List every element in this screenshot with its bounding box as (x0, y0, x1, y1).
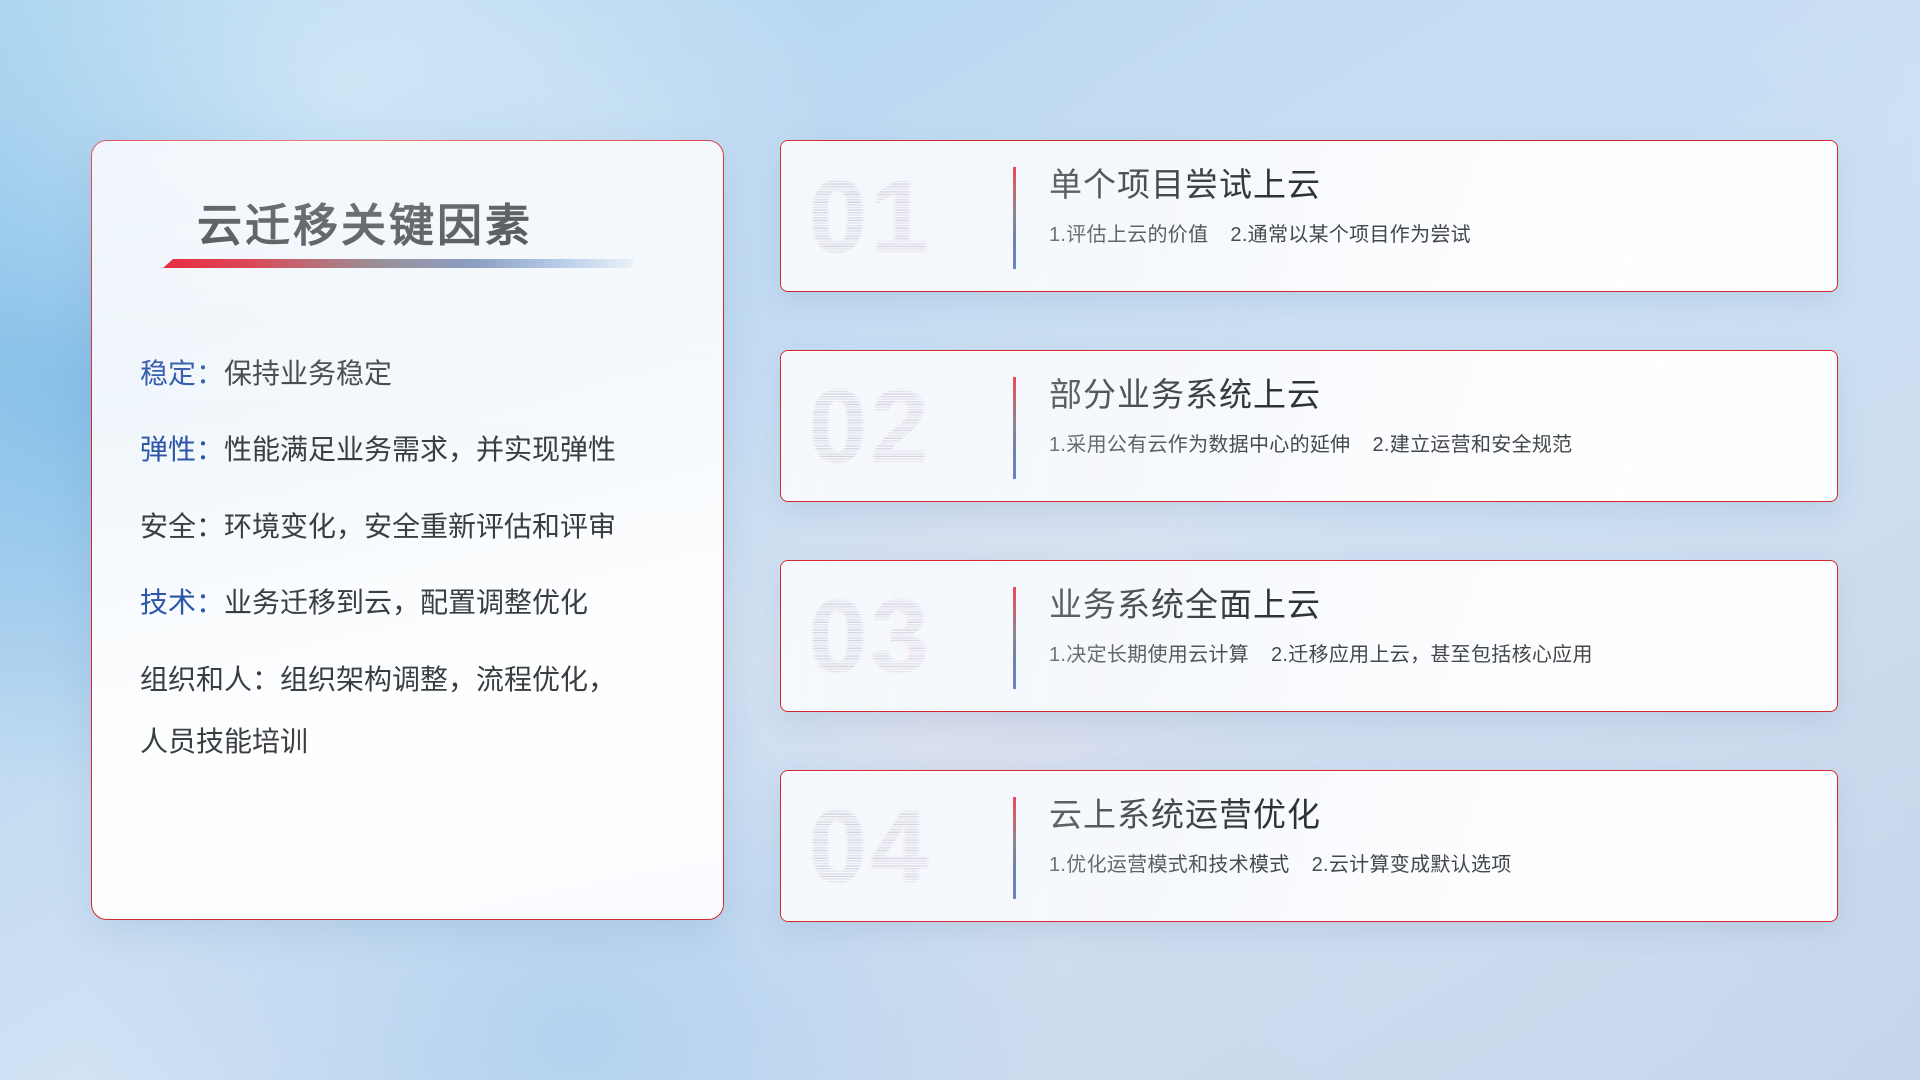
stage-description: 1.优化运营模式和技术模式2.云计算变成默认选项 (1049, 848, 1813, 877)
key-factor-label: 弹性： (140, 434, 224, 465)
stage-text-block: 业务系统全面上云1.决定长期使用云计算2.迁移应用上云，甚至包括核心应用 (1049, 585, 1813, 667)
key-factor-value: 性能满足业务需求，并实现弹性 (224, 434, 616, 465)
key-factors-list: 稳定：保持业务稳定弹性：性能满足业务需求，并实现弹性安全：环境变化，安全重新评估… (140, 359, 691, 756)
key-factor-row: 弹性：性能满足业务需求，并实现弹性 (140, 435, 691, 464)
stage-title: 部分业务系统上云 (1049, 375, 1813, 415)
stage-description-part-2: 2.迁移应用上云，甚至包括核心应用 (1271, 644, 1593, 666)
stage-card[interactable]: 020202部分业务系统上云1.采用公有云作为数据中心的延伸2.建立运营和安全规… (780, 350, 1838, 502)
stage-description-part-1: 1.决定长期使用云计算 (1049, 644, 1249, 666)
stage-number-watermark: 040404 (803, 790, 1003, 902)
title-underline-gradient (163, 259, 633, 268)
key-factor-value: 业务迁移到云，配置调整优化 (224, 587, 588, 618)
key-factor-row: 技术：业务迁移到云，配置调整优化 (140, 588, 691, 617)
svg-text:02: 02 (809, 370, 933, 482)
stage-text-block: 云上系统运营优化1.优化运营模式和技术模式2.云计算变成默认选项 (1049, 795, 1813, 877)
key-factor-row: 组织和人：组织架构调整，流程优化， (140, 665, 691, 694)
migration-stage-cards: 010101单个项目尝试上云1.评估上云的价值2.通常以某个项目作为尝试0202… (780, 140, 1838, 922)
stage-description-part-2: 2.云计算变成默认选项 (1312, 854, 1512, 876)
stage-number-watermark: 020202 (803, 370, 1003, 482)
stage-text-block: 部分业务系统上云1.采用公有云作为数据中心的延伸2.建立运营和安全规范 (1049, 375, 1813, 457)
stage-number-watermark: 010101 (803, 160, 1003, 272)
stage-card[interactable]: 010101单个项目尝试上云1.评估上云的价值2.通常以某个项目作为尝试 (780, 140, 1838, 292)
key-factor-row: 稳定：保持业务稳定 (140, 359, 691, 388)
key-factor-label: 稳定： (140, 358, 224, 389)
stage-description-part-1: 1.采用公有云作为数据中心的延伸 (1049, 434, 1350, 456)
stage-title: 单个项目尝试上云 (1049, 165, 1813, 205)
key-factor-value: 组织架构调整，流程优化， (280, 664, 616, 695)
key-factor-label: 组织和人： (140, 664, 280, 695)
stage-description-part-1: 1.优化运营模式和技术模式 (1049, 854, 1290, 876)
stage-description: 1.采用公有云作为数据中心的延伸2.建立运营和安全规范 (1049, 428, 1813, 457)
page-title: 云迁移关键因素 (197, 189, 533, 254)
svg-text:04: 04 (809, 790, 933, 902)
key-factor-value: 人员技能培训 (140, 726, 308, 757)
stage-description: 1.决定长期使用云计算2.迁移应用上云，甚至包括核心应用 (1049, 638, 1813, 667)
key-factors-panel: 云迁移关键因素 稳定：保持业务稳定弹性：性能满足业务需求，并实现弹性安全：环境变… (91, 140, 724, 920)
stage-card[interactable]: 040404云上系统运营优化1.优化运营模式和技术模式2.云计算变成默认选项 (780, 770, 1838, 922)
svg-text:01: 01 (809, 160, 933, 272)
stage-description: 1.评估上云的价值2.通常以某个项目作为尝试 (1049, 218, 1813, 247)
key-factor-value: 保持业务稳定 (224, 358, 392, 389)
key-factor-value: 环境变化，安全重新评估和评审 (224, 511, 616, 542)
stage-description-part-2: 2.通常以某个项目作为尝试 (1230, 224, 1471, 246)
stage-number-watermark: 030303 (803, 580, 1003, 692)
svg-text:03: 03 (809, 580, 933, 692)
stage-accent-bar (1013, 377, 1016, 479)
key-factor-row: 安全：环境变化，安全重新评估和评审 (140, 512, 691, 541)
key-factor-label: 技术： (140, 587, 224, 618)
stage-text-block: 单个项目尝试上云1.评估上云的价值2.通常以某个项目作为尝试 (1049, 165, 1813, 247)
stage-accent-bar (1013, 167, 1016, 269)
slide-canvas: 云迁移关键因素 稳定：保持业务稳定弹性：性能满足业务需求，并实现弹性安全：环境变… (0, 0, 1920, 1080)
stage-description-part-1: 1.评估上云的价值 (1049, 224, 1208, 246)
stage-card[interactable]: 030303业务系统全面上云1.决定长期使用云计算2.迁移应用上云，甚至包括核心… (780, 560, 1838, 712)
key-factor-label: 安全： (140, 511, 224, 542)
stage-accent-bar (1013, 797, 1016, 899)
stage-accent-bar (1013, 587, 1016, 689)
stage-title: 云上系统运营优化 (1049, 795, 1813, 835)
stage-description-part-2: 2.建立运营和安全规范 (1372, 434, 1572, 456)
stage-title: 业务系统全面上云 (1049, 585, 1813, 625)
key-factor-row: 人员技能培训 (140, 727, 691, 756)
